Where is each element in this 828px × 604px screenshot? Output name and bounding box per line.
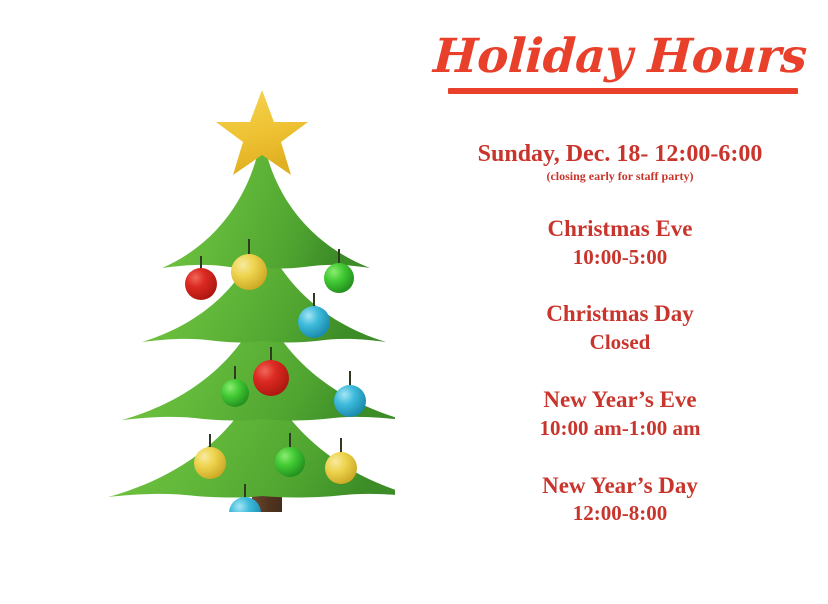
schedule-entry-new-years-eve: New Year’s Eve 10:00 am-1:00 am	[420, 386, 820, 442]
christmas-tree-svg	[55, 72, 395, 512]
christmas-tree-illustration	[55, 72, 395, 512]
schedule-label: Christmas Eve	[420, 215, 820, 244]
schedule-label: New Year’s Day	[420, 472, 820, 501]
schedule-label: New Year’s Eve	[420, 386, 820, 415]
schedule-hours: 12:00-8:00	[420, 500, 820, 527]
schedule-hours: 10:00-5:00	[420, 244, 820, 271]
tree-foliage	[108, 132, 395, 498]
hours-panel: Holiday Hours Sunday, Dec. 18- 12:00-6:0…	[420, 32, 820, 533]
title-underline-rule	[448, 88, 798, 94]
schedule-entry-christmas-day: Christmas Day Closed	[420, 300, 820, 356]
spacer	[420, 276, 820, 300]
ornament-yellow-lower-right	[325, 438, 357, 484]
schedule-entry-christmas-eve: Christmas Eve 10:00-5:00	[420, 215, 820, 271]
spacer	[420, 191, 820, 215]
schedule-lead-line: Sunday, Dec. 18- 12:00-6:00	[420, 140, 820, 169]
schedule-note: (closing early for staff party)	[420, 169, 820, 185]
ornament-cyan-middle-right	[334, 371, 366, 417]
schedule-hours: 10:00 am-1:00 am	[420, 415, 820, 442]
holiday-hours-poster: Holiday Hours Sunday, Dec. 18- 12:00-6:0…	[0, 0, 828, 604]
schedule-entry-new-years-day: New Year’s Day 12:00-8:00	[420, 472, 820, 528]
poster-title-text: Holiday Hours	[419, 32, 822, 81]
poster-title: Holiday Hours	[420, 32, 820, 118]
spacer	[420, 448, 820, 472]
schedule-label: Christmas Day	[420, 300, 820, 329]
schedule-hours: Closed	[420, 329, 820, 356]
spacer	[420, 362, 820, 386]
schedule-entry-sunday: Sunday, Dec. 18- 12:00-6:00 (closing ear…	[420, 140, 820, 185]
